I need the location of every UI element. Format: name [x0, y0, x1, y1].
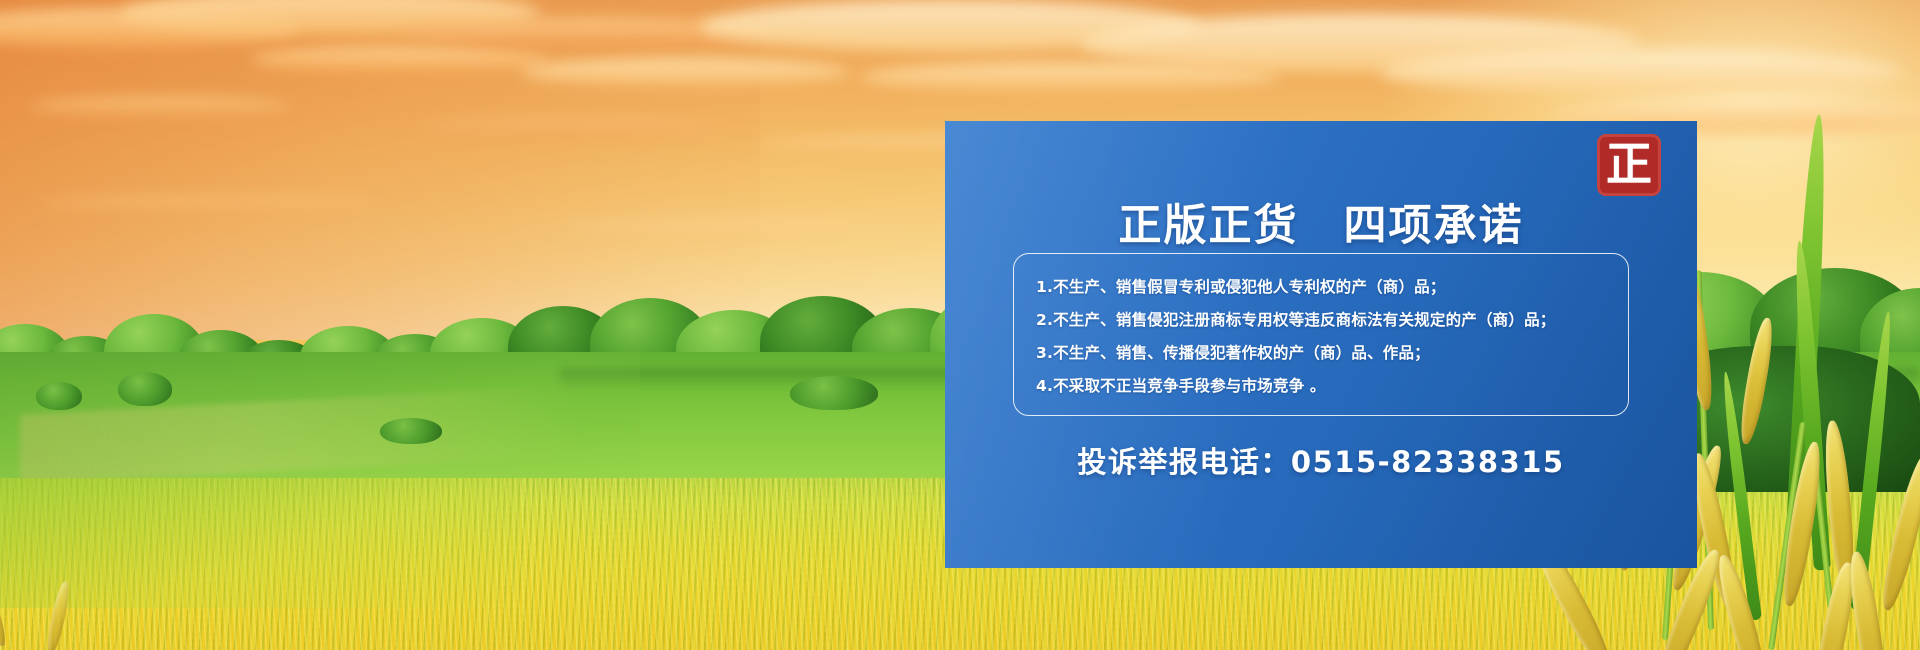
rice-ear: [1712, 552, 1773, 650]
cloud: [30, 96, 290, 116]
rice-ear: [44, 580, 72, 650]
panel-title: 正版正货 四项承诺: [945, 191, 1697, 253]
commitment-item: 2.不生产、销售侵犯注册商标专用权等违反商标法有关规定的产（商）品；: [1036, 304, 1628, 337]
commitment-item: 1.不生产、销售假冒专利或侵犯他人专利权的产（商）品；: [1036, 271, 1628, 304]
cloud: [560, 220, 920, 234]
promo-panel: 正 正版正货 四项承诺 1.不生产、销售假冒专利或侵犯他人专利权的产（商）品； …: [945, 121, 1697, 568]
seal-glyph: 正: [1606, 141, 1652, 187]
complaint-hotline: 投诉举报电话：0515-82338315: [945, 439, 1697, 481]
cloud: [40, 196, 380, 210]
commitment-item: 3.不生产、销售、传播侵犯著作权的产（商）品、作品；: [1036, 337, 1628, 370]
commitment-item: 4.不采取不正当竞争手段参与市场竞争 。: [1036, 370, 1628, 403]
cloud: [420, 118, 720, 136]
bush: [790, 376, 878, 410]
cloud: [1380, 50, 1900, 94]
commitment-list-box: 1.不生产、销售假冒专利或侵犯他人专利权的产（商）品； 2.不生产、销售侵犯注册…: [1013, 253, 1629, 416]
bush: [118, 372, 172, 406]
rice-ear: [0, 562, 10, 648]
bush: [36, 382, 82, 410]
cloud: [250, 46, 550, 72]
foreground-rice-stalks-left: [0, 470, 190, 650]
bush: [380, 418, 442, 444]
zheng-seal-logo-icon: 正: [1597, 134, 1661, 196]
cloud: [520, 58, 850, 86]
